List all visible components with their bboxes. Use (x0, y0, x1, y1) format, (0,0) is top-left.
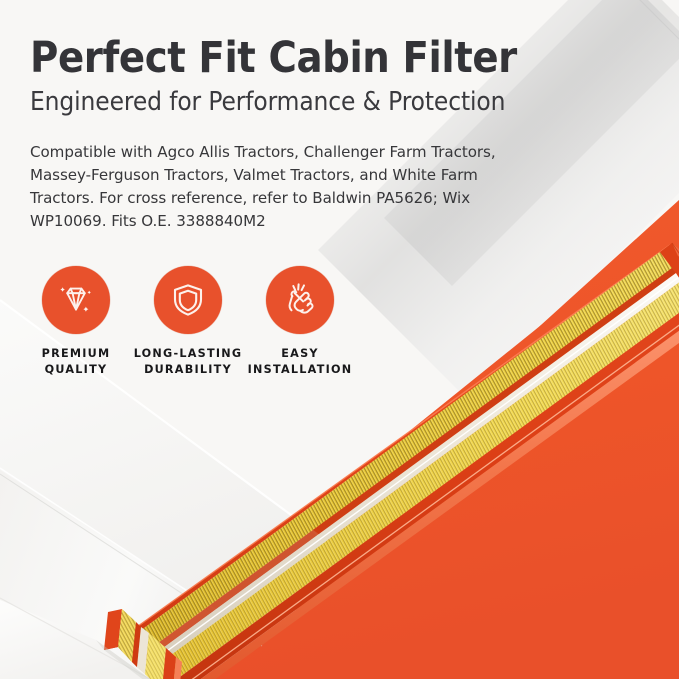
shield-icon (168, 280, 208, 320)
feature-icon-disc (42, 266, 110, 334)
feature-label: PREMIUM QUALITY (42, 346, 111, 378)
feature-badge-row: PREMIUM QUALITY LONG-LASTING DURABILITY (20, 266, 356, 378)
copy-block: Perfect Fit Cabin Filter Engineered for … (30, 36, 600, 232)
compatibility-description: Compatible with Agco Allis Tractors, Cha… (30, 141, 542, 233)
feature-easy-installation: EASY INSTALLATION (244, 266, 356, 378)
feature-icon-disc (154, 266, 222, 334)
product-feature-card: Perfect Fit Cabin Filter Engineered for … (0, 0, 679, 679)
feature-label: EASY INSTALLATION (248, 346, 353, 378)
feature-premium-quality: PREMIUM QUALITY (20, 266, 132, 378)
page-subtitle: Engineered for Performance & Protection (30, 88, 600, 117)
page-title: Perfect Fit Cabin Filter (30, 36, 600, 82)
snap-fingers-icon (280, 280, 320, 320)
diamond-icon (56, 280, 96, 320)
feature-label: LONG-LASTING DURABILITY (134, 346, 243, 378)
feature-icon-disc (266, 266, 334, 334)
feature-long-lasting-durability: LONG-LASTING DURABILITY (132, 266, 244, 378)
